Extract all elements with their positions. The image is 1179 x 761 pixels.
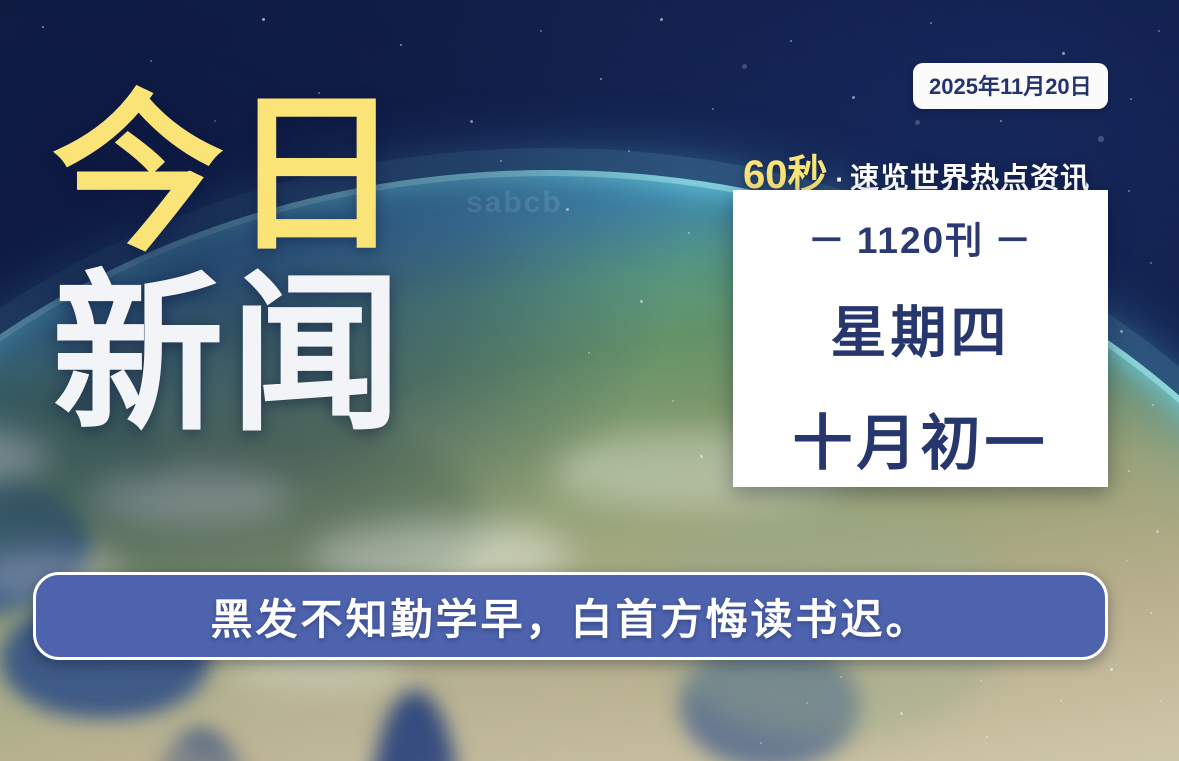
info-card: －1120刊－ 星期四 十月初一 [733,190,1108,487]
issue-dash-right: － [994,220,1033,261]
weekday-label: 星期四 [831,288,1011,369]
news-poster: sabcb 今日 新闻 2025年11月20日 60秒 · 速览世界热点资讯 －… [0,0,1179,761]
lunar-date-label: 十月初一 [793,395,1049,482]
poster-title: 今日 新闻 [52,96,522,434]
title-line-news: 新闻 [52,276,522,434]
quote-bar: 黑发不知勤学早，白首方悔读书迟。 [33,572,1108,660]
date-badge: 2025年11月20日 [913,63,1108,109]
issue-line: －1120刊－ [798,210,1043,264]
quote-text: 黑发不知勤学早，白首方悔读书迟。 [210,586,930,647]
issue-number: 1120刊 [857,220,984,261]
issue-dash-left: － [808,220,847,261]
title-line-today: 今日 [52,96,522,254]
